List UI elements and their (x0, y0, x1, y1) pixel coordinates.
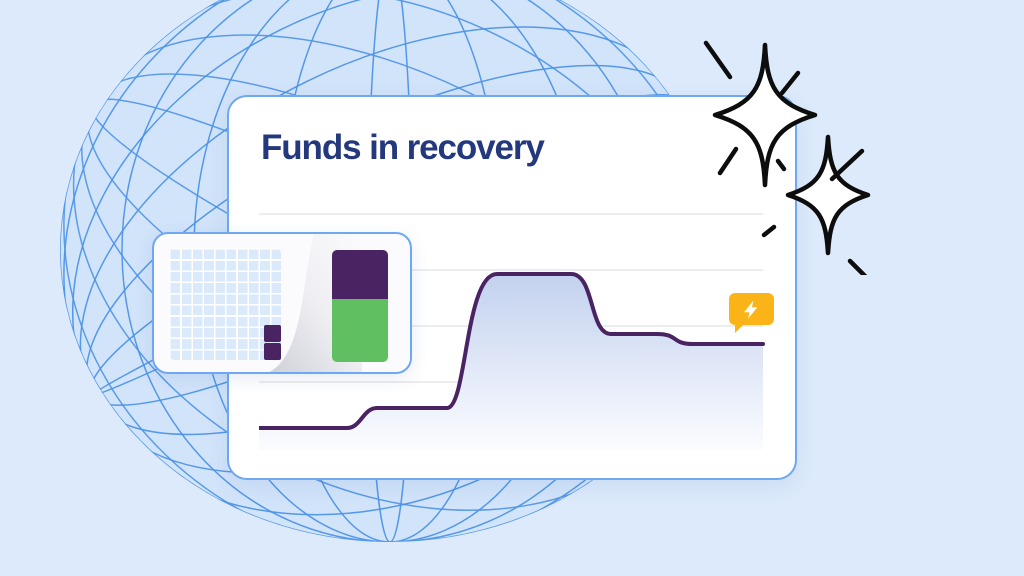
stacked-bar (332, 250, 388, 362)
stacked-bar-segment-bottom (332, 299, 388, 362)
screenshot-root: Funds in recovery (0, 0, 1024, 576)
lightning-badge[interactable] (729, 293, 774, 333)
chip-lower (264, 343, 281, 360)
chip-upper (264, 325, 281, 342)
mini-stats-card (152, 232, 412, 374)
page-title: Funds in recovery (261, 128, 544, 168)
stacked-bar-segment-top (332, 250, 388, 299)
lightning-badge-svg (729, 293, 774, 333)
sparkle-small (788, 137, 868, 253)
